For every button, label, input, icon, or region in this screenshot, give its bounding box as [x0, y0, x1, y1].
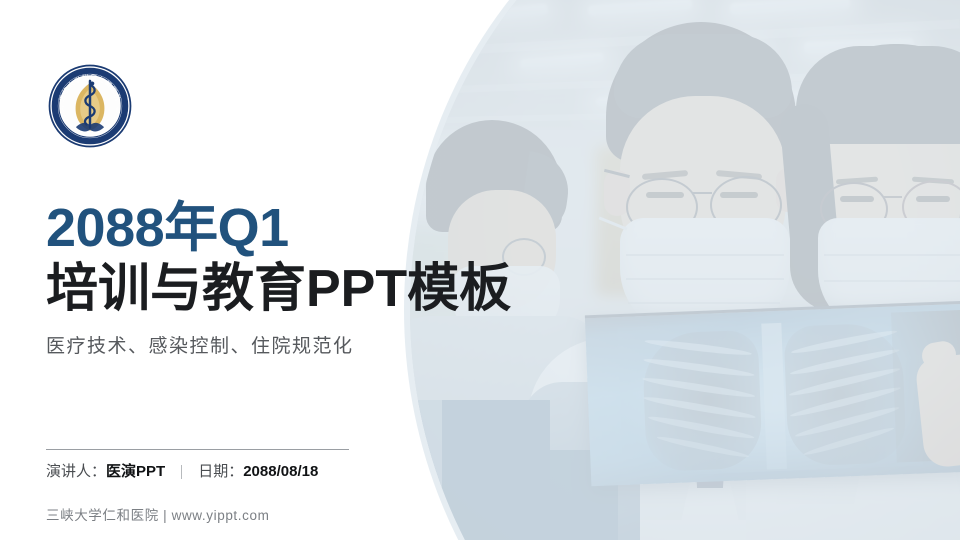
divider [46, 449, 349, 450]
title-line-year: 2088年Q1 [46, 198, 511, 258]
title-line-main: 培训与教育PPT模板 [46, 258, 511, 320]
date-label: 日期： [198, 461, 243, 483]
subtitle: 医疗技术、感染控制、住院规范化 [46, 334, 354, 360]
date-value: 2088/08/18 [243, 461, 318, 483]
presenter-label: 演讲人： [46, 461, 106, 483]
page-title: 2088年Q1 培训与教育PPT模板 [46, 198, 511, 320]
footer-credit: 三峡大学仁和医院 | www.yippt.com [46, 506, 269, 526]
meta-row: 演讲人： 医演PPT 日期： 2088/08/18 [46, 461, 318, 483]
hospital-logo: 三峡大学附属仁和医院 THE AFFILIATED RENHE HOSPITAL… [46, 62, 134, 150]
presenter-value: 医演PPT [106, 461, 165, 483]
presentation-slide: 三峡大学附属仁和医院 THE AFFILIATED RENHE HOSPITAL… [0, 0, 960, 540]
meta-separator [181, 465, 182, 479]
